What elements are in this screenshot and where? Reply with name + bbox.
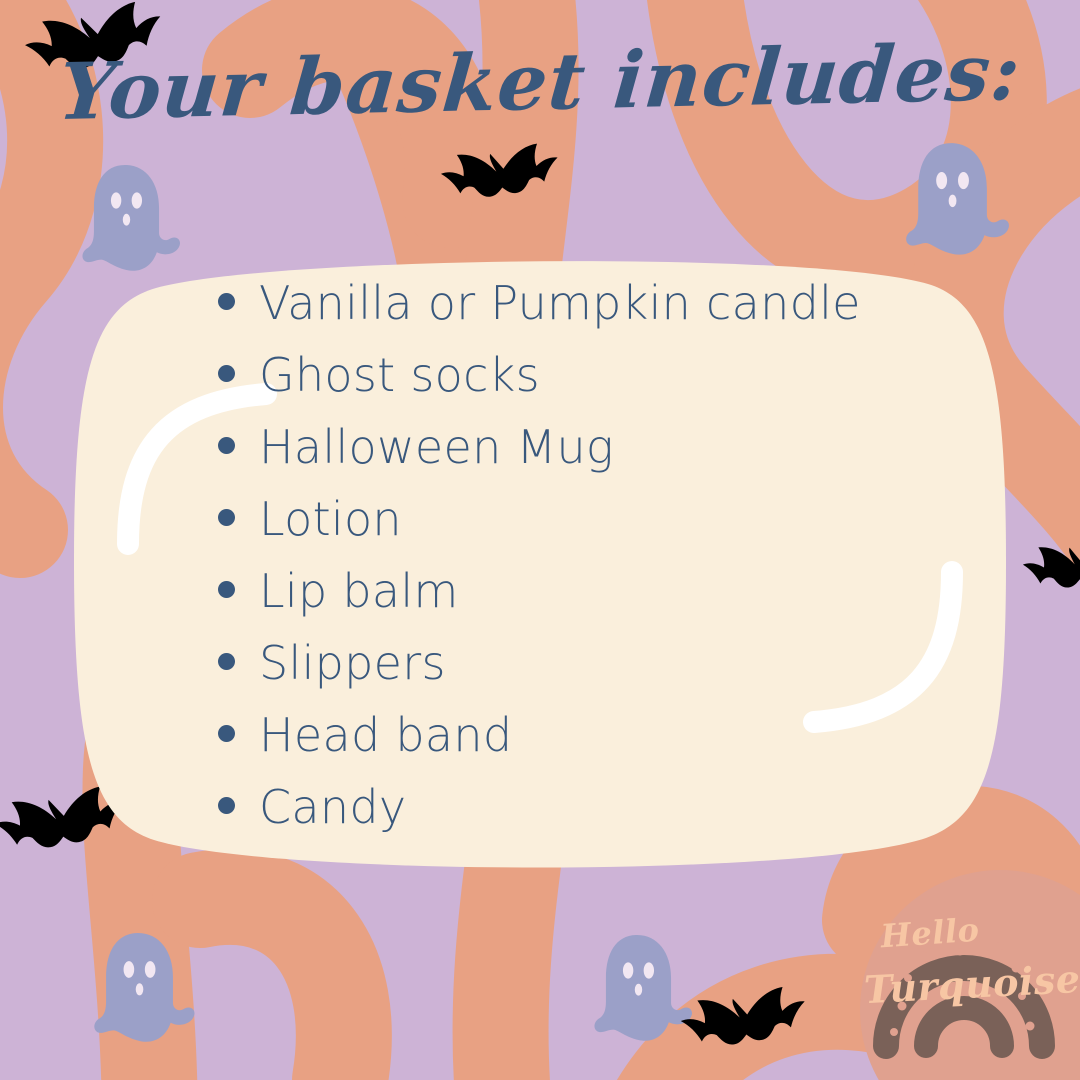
bullet-icon bbox=[218, 365, 235, 382]
list-item: Head band bbox=[218, 712, 1010, 784]
bullet-icon bbox=[218, 653, 235, 670]
list-item-label: Slippers bbox=[259, 640, 446, 686]
list-item: Slippers bbox=[218, 640, 1010, 712]
list-item-label: Candy bbox=[259, 784, 406, 830]
list-item-label: Halloween Mug bbox=[259, 424, 614, 470]
poster-canvas: Your basket includes: Vanilla or Pumpkin… bbox=[0, 0, 1080, 1080]
brand-logo: Hello Turquoise bbox=[864, 886, 1064, 1064]
list-item: Halloween Mug bbox=[218, 424, 1010, 496]
basket-contents-card: Vanilla or Pumpkin candle Ghost socks Ha… bbox=[70, 232, 1010, 882]
bullet-icon bbox=[218, 509, 235, 526]
bullet-icon bbox=[218, 581, 235, 598]
list-item: Lotion bbox=[218, 496, 1010, 568]
bullet-icon bbox=[218, 437, 235, 454]
list-item-label: Lotion bbox=[259, 496, 402, 542]
list-item: Ghost socks bbox=[218, 352, 1010, 424]
list-item: Vanilla or Pumpkin candle bbox=[218, 280, 1010, 352]
list-item: Lip balm bbox=[218, 568, 1010, 640]
list-item-label: Vanilla or Pumpkin candle bbox=[259, 280, 861, 326]
basket-items-list: Vanilla or Pumpkin candle Ghost socks Ha… bbox=[70, 232, 1010, 882]
rainbow-icon bbox=[864, 886, 1064, 1064]
list-item-label: Ghost socks bbox=[259, 352, 540, 398]
list-item-label: Head band bbox=[259, 712, 512, 758]
bullet-icon bbox=[218, 797, 235, 814]
list-item-label: Lip balm bbox=[259, 568, 459, 614]
list-item: Candy bbox=[218, 784, 1010, 856]
bullet-icon bbox=[218, 293, 235, 310]
bullet-icon bbox=[218, 725, 235, 742]
